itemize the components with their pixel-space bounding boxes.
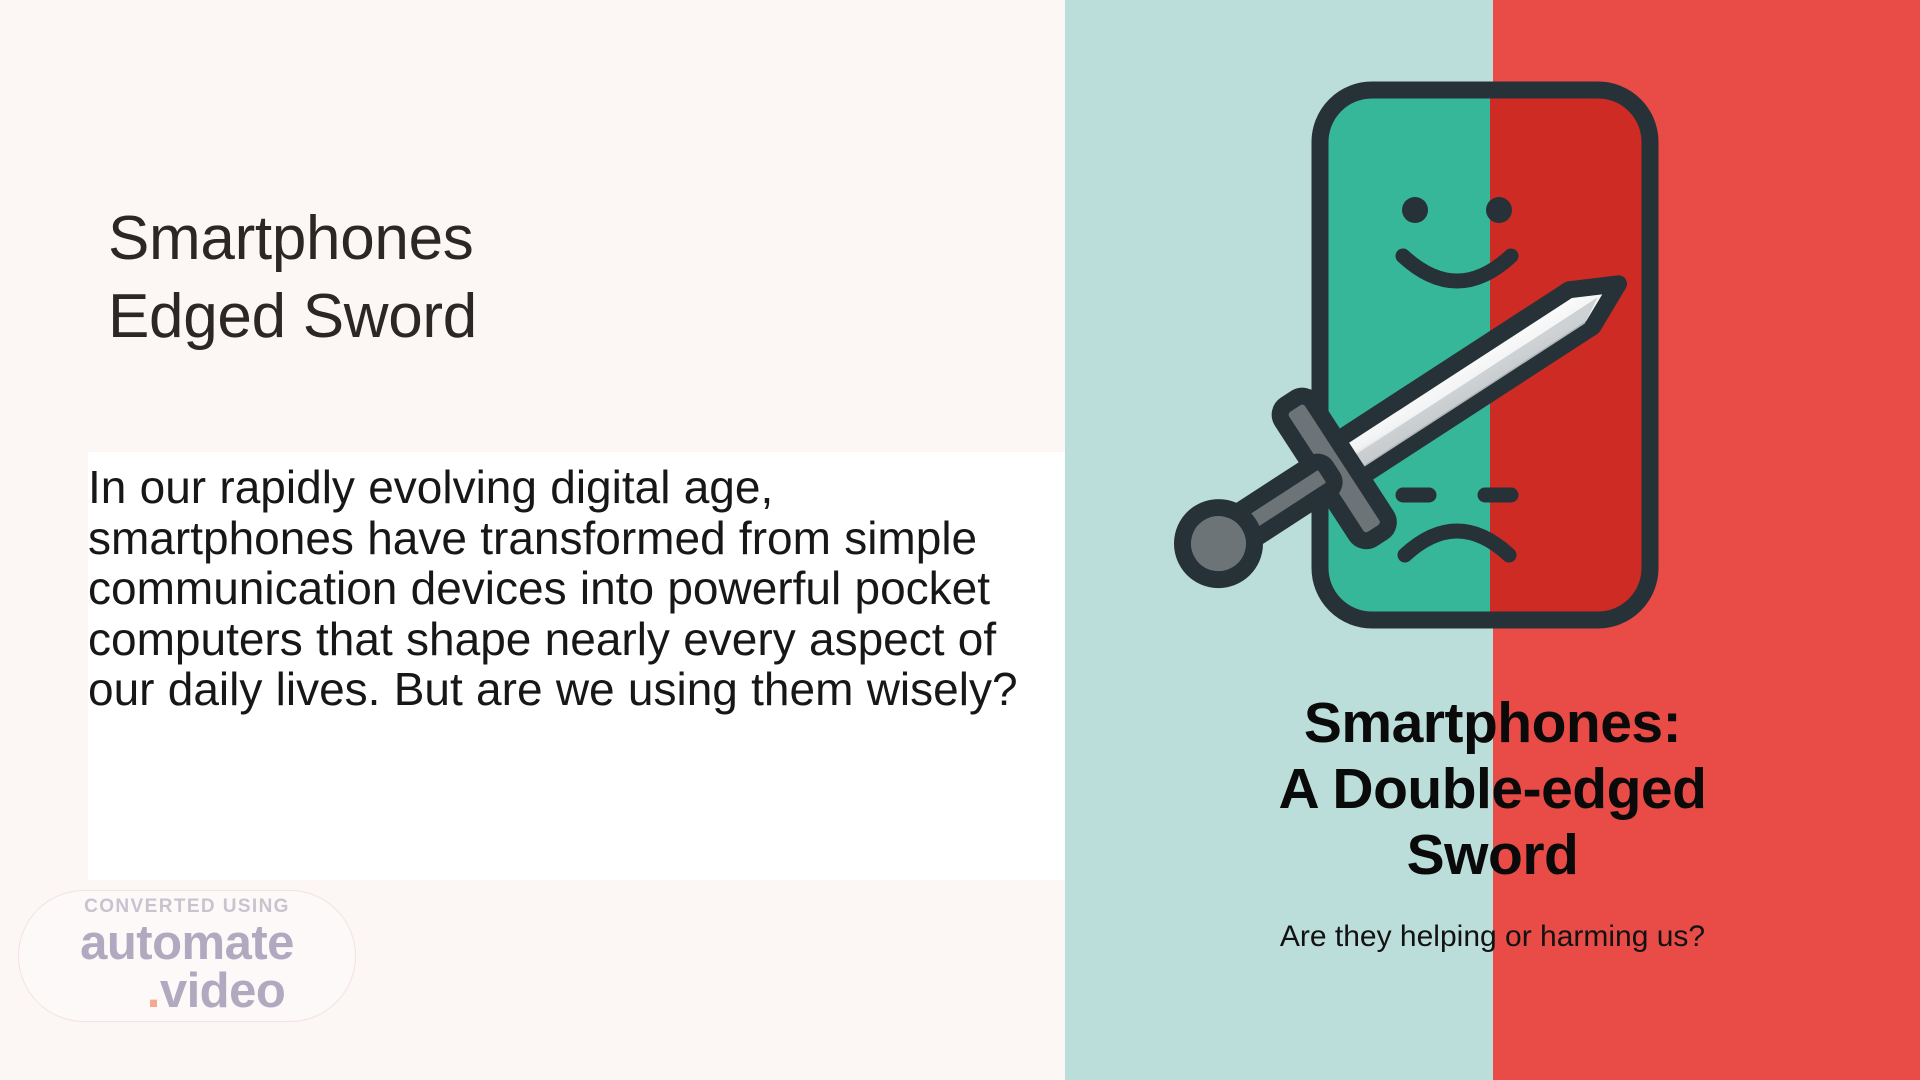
title-line-2: Edged Sword bbox=[108, 278, 908, 356]
right-text-block: Smartphones: A Double-edged Sword Are th… bbox=[1065, 690, 1920, 954]
watermark-brand: automate bbox=[80, 920, 294, 967]
slide-title: Smartphones Edged Sword bbox=[108, 200, 908, 355]
watermark-badge: CONVERTED USING automate .video bbox=[18, 890, 356, 1022]
watermark-eyebrow: CONVERTED USING bbox=[84, 897, 290, 916]
watermark-domain: .video bbox=[147, 967, 286, 1015]
right-pane: Smartphones: A Double-edged Sword Are th… bbox=[1065, 0, 1920, 1080]
body-paragraph: In our rapidly evolving digital age, sma… bbox=[88, 462, 1066, 715]
title-line-1: Smartphones bbox=[108, 200, 908, 278]
smartphone-sword-icon bbox=[1065, 60, 1920, 680]
right-subtitle: Are they helping or harming us? bbox=[1065, 920, 1920, 954]
left-pane: Smartphones Edged Sword In our rapidly e… bbox=[0, 0, 1065, 1080]
right-heading-line-2: A Double-edged bbox=[1065, 756, 1920, 822]
slide-canvas: Smartphones Edged Sword In our rapidly e… bbox=[0, 0, 1920, 1080]
right-heading-line-3: Sword bbox=[1065, 822, 1920, 888]
right-heading-line-1: Smartphones: bbox=[1065, 690, 1920, 756]
watermark-domain-text: video bbox=[160, 964, 285, 1018]
body-text-card: In our rapidly evolving digital age, sma… bbox=[88, 452, 1066, 880]
watermark-dot: . bbox=[147, 964, 160, 1018]
